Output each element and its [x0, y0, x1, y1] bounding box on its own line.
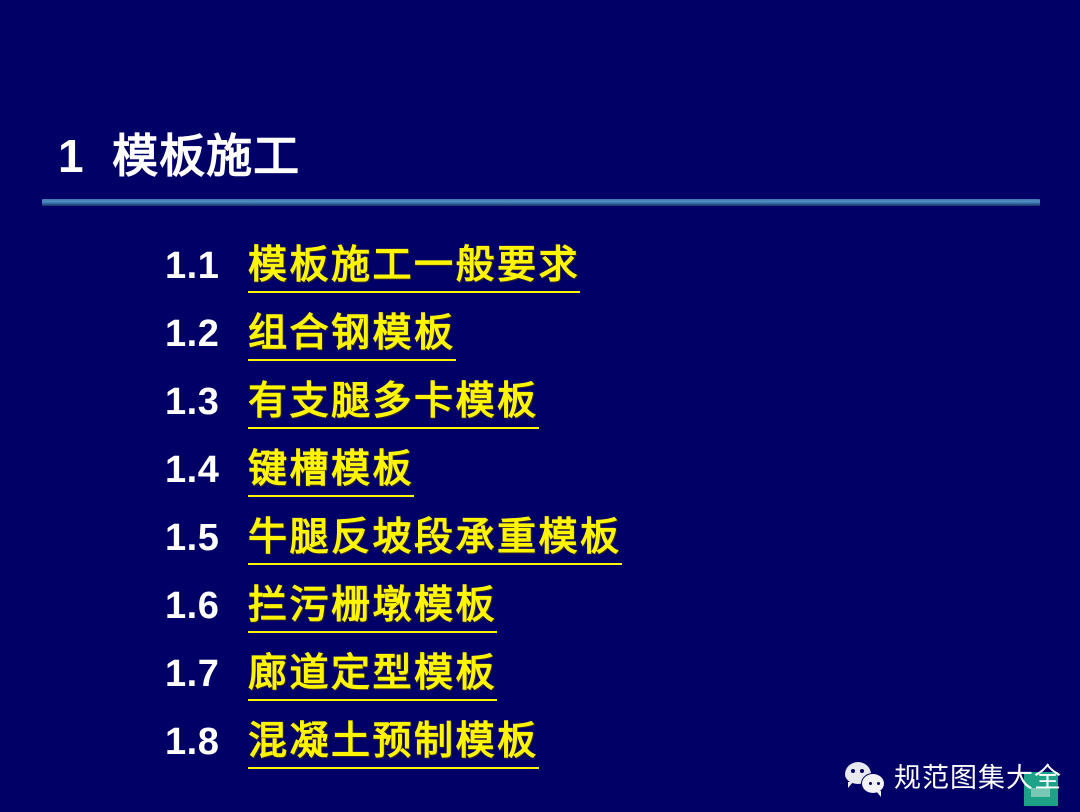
- toc-item-link[interactable]: 牛腿反坡段承重模板: [248, 515, 622, 565]
- list-item[interactable]: 1.4 键槽模板: [165, 447, 1025, 515]
- toc-item-link[interactable]: 组合钢模板: [248, 311, 456, 361]
- toc-item-link[interactable]: 拦污栅墩模板: [248, 583, 497, 633]
- title-divider: [42, 199, 1040, 206]
- page-title: 1 模板施工: [58, 127, 958, 185]
- list-item[interactable]: 1.3 有支腿多卡模板: [165, 379, 1025, 447]
- list-item[interactable]: 1.2 组合钢模板: [165, 311, 1025, 379]
- list-item[interactable]: 1.1 模板施工一般要求: [165, 243, 1025, 311]
- toc-item-number: 1.4: [165, 447, 248, 493]
- list-item[interactable]: 1.6 拦污栅墩模板: [165, 583, 1025, 651]
- toc-item-number: 1.6: [165, 583, 248, 629]
- watermark: 规范图集大全: [845, 762, 1062, 794]
- toc-item-link[interactable]: 键槽模板: [248, 447, 414, 497]
- toc-item-number: 1.5: [165, 515, 248, 561]
- toc-item-number: 1.1: [165, 243, 248, 289]
- toc-item-link[interactable]: 廊道定型模板: [248, 651, 497, 701]
- toc-item-number: 1.3: [165, 379, 248, 425]
- toc-item-link[interactable]: 有支腿多卡模板: [248, 379, 539, 429]
- toc-item-number: 1.7: [165, 651, 248, 697]
- wechat-icon: [845, 762, 885, 794]
- toc-item-link[interactable]: 混凝土预制模板: [248, 719, 539, 769]
- list-item[interactable]: 1.5 牛腿反坡段承重模板: [165, 515, 1025, 583]
- watermark-text: 规范图集大全: [894, 762, 1062, 794]
- toc-item-number: 1.2: [165, 311, 248, 357]
- title-block: 1 模板施工: [58, 127, 958, 185]
- list-item[interactable]: 1.7 廊道定型模板: [165, 651, 1025, 719]
- toc-item-link[interactable]: 模板施工一般要求: [248, 243, 580, 293]
- presentation-slide: 1 模板施工 1.1 模板施工一般要求 1.2 组合钢模板 1.3 有支腿多卡模…: [0, 0, 1080, 812]
- table-of-contents: 1.1 模板施工一般要求 1.2 组合钢模板 1.3 有支腿多卡模板 1.4 键…: [165, 243, 1025, 787]
- toc-item-number: 1.8: [165, 719, 248, 765]
